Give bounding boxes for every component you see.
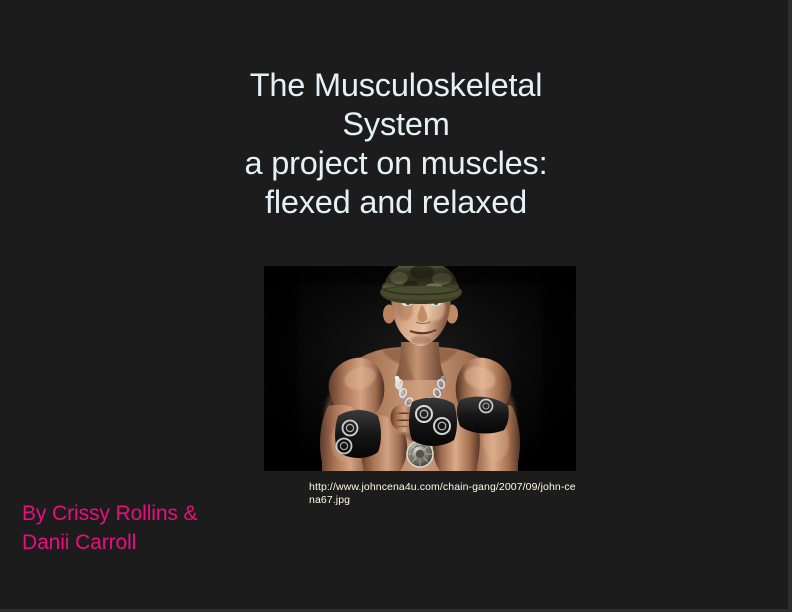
slide-byline: By Crissy Rollins & Danii Carroll [22, 499, 272, 557]
title-line-2: System [96, 105, 696, 144]
photo-source-caption: http://www.johncena4u.com/chain-gang/200… [309, 481, 581, 507]
title-line-1: The Musculoskeletal [96, 66, 696, 105]
presentation-slide: The Musculoskeletal System a project on … [0, 0, 792, 612]
photo-illustration [264, 266, 576, 471]
title-line-3: a project on muscles: [96, 144, 696, 183]
title-line-4: flexed and relaxed [96, 183, 696, 222]
byline-line-1: By Crissy Rollins & [22, 499, 272, 528]
byline-line-2: Danii Carroll [22, 528, 272, 557]
slide-title: The Musculoskeletal System a project on … [96, 66, 696, 222]
slide-photo [264, 266, 576, 471]
caption-line-1: http://www.johncena4u.com/chain-gang/200… [309, 481, 541, 493]
